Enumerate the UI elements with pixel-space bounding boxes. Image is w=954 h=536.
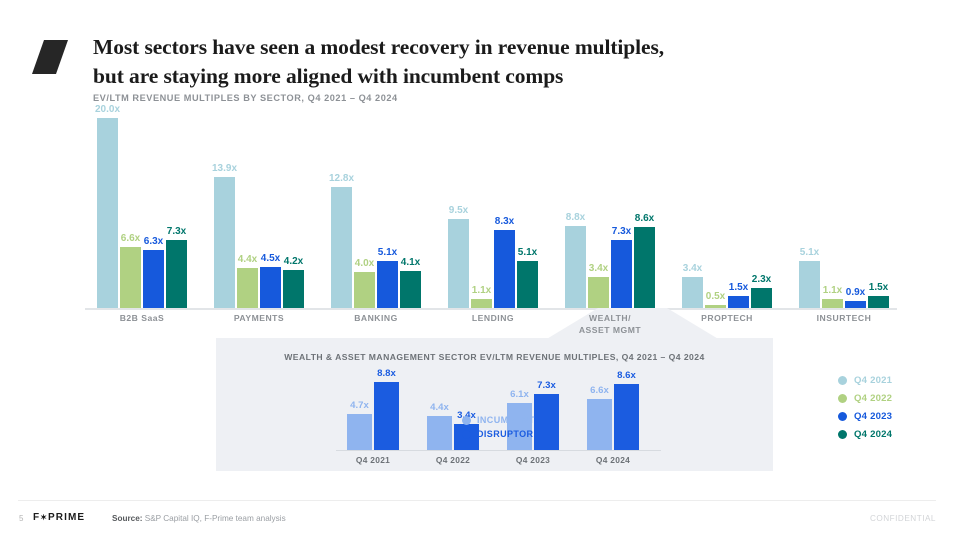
legend-label: Q4 2024 (854, 429, 892, 440)
inset-legend-swatch-icon (462, 430, 471, 439)
bar-value-label: 0.9x (846, 288, 865, 298)
bar-column[interactable]: 7.3x (166, 118, 187, 310)
category-label-line: LENDING (428, 313, 558, 325)
source-label: Source: (112, 514, 142, 523)
bar-column[interactable]: 4.4x (237, 118, 258, 310)
bar-value-label: 0.5x (706, 292, 725, 302)
bar-value-label: 6.3x (144, 237, 163, 247)
bar[interactable] (143, 250, 164, 310)
bar-column[interactable]: 0.5x (705, 118, 726, 310)
bar-value-label: 8.8x (566, 213, 585, 223)
inset-bar-value-label: 6.6x (590, 386, 609, 396)
inset-legend-swatch-icon (462, 416, 471, 425)
bar-column[interactable]: 20.0x (97, 118, 118, 310)
inset-bar[interactable] (587, 399, 612, 450)
bar[interactable] (565, 226, 586, 310)
inset-bar-column[interactable]: 6.6x (587, 382, 612, 450)
inset-legend-item[interactable]: DISRUPTOR (462, 429, 535, 439)
page-number: 5 (19, 514, 23, 523)
bar[interactable] (400, 271, 421, 310)
bar-value-label: 4.5x (261, 254, 280, 264)
bar[interactable] (634, 227, 655, 310)
bar-column[interactable]: 0.9x (845, 118, 866, 310)
bar-value-label: 5.1x (800, 248, 819, 258)
bar-value-label: 1.1x (472, 286, 491, 296)
inset-bar-value-label: 4.4x (430, 403, 449, 413)
category-label-line: PROPTECH (662, 313, 792, 325)
legend-item[interactable]: Q4 2021 (838, 375, 892, 386)
bar-column[interactable]: 1.5x (728, 118, 749, 310)
inset-bar[interactable] (427, 416, 452, 450)
bar-column[interactable]: 6.3x (143, 118, 164, 310)
fprime-logo: F✶PRIME (33, 512, 85, 523)
bar-group: 5.1x1.1x0.9x1.5x (799, 118, 889, 310)
inset-bar[interactable] (347, 414, 372, 450)
bar-value-label: 5.1x (378, 248, 397, 258)
bar-group: 3.4x0.5x1.5x2.3x (682, 118, 772, 310)
legend-label: Q4 2022 (854, 393, 892, 404)
main-chart-axis (85, 308, 897, 310)
bar[interactable] (588, 277, 609, 310)
slide-root: Most sectors have seen a modest recovery… (0, 0, 954, 536)
bar-column[interactable]: 5.1x (517, 118, 538, 310)
brand-slash-icon (30, 36, 72, 78)
bar-value-label: 4.2x (284, 257, 303, 267)
bar[interactable] (799, 261, 820, 310)
bar-value-label: 9.5x (449, 206, 468, 216)
bar-value-label: 1.5x (729, 283, 748, 293)
bar-value-label: 3.4x (589, 264, 608, 274)
bar-column[interactable]: 12.8x (331, 118, 352, 310)
source-text: S&P Capital IQ, F-Prime team analysis (142, 514, 285, 523)
bar[interactable] (283, 270, 304, 310)
inset-bar[interactable] (534, 394, 559, 450)
bar-value-label: 3.4x (683, 264, 702, 274)
inset-legend-label: INCUMBENT (477, 415, 535, 425)
bar-column[interactable]: 8.8x (565, 118, 586, 310)
bar[interactable] (354, 272, 375, 310)
bar-value-label: 4.1x (401, 258, 420, 268)
bar-column[interactable]: 4.5x (260, 118, 281, 310)
bar-column[interactable]: 4.2x (283, 118, 304, 310)
bar-value-label: 20.0x (95, 105, 120, 115)
bar-value-label: 4.4x (238, 255, 257, 265)
bar[interactable] (377, 261, 398, 310)
bar-value-label: 4.0x (355, 259, 374, 269)
bar-group: 9.5x1.1x8.3x5.1x (448, 118, 538, 310)
bar-group: 8.8x3.4x7.3x8.6x (565, 118, 655, 310)
bar[interactable] (331, 187, 352, 310)
bar-column[interactable]: 3.4x (682, 118, 703, 310)
bar[interactable] (260, 267, 281, 310)
inset-bar-value-label: 8.6x (617, 371, 636, 381)
bar-value-label: 12.8x (329, 174, 354, 184)
inset-legend-label: DISRUPTOR (477, 429, 533, 439)
bar-column[interactable]: 2.3x (751, 118, 772, 310)
bar-column[interactable]: 7.3x (611, 118, 632, 310)
bar-group: 13.9x4.4x4.5x4.2x (214, 118, 304, 310)
bar-value-label: 2.3x (752, 275, 771, 285)
bar-value-label: 8.3x (495, 217, 514, 227)
bar-column[interactable]: 6.6x (120, 118, 141, 310)
bar-value-label: 5.1x (518, 248, 537, 258)
bar-value-label: 7.3x (167, 227, 186, 237)
main-bar-chart: 20.0x6.6x6.3x7.3x13.9x4.4x4.5x4.2x12.8x4… (85, 118, 895, 310)
bar-column[interactable]: 5.1x (799, 118, 820, 310)
bar-column[interactable]: 8.3x (494, 118, 515, 310)
category-label-line: PAYMENTS (194, 313, 324, 325)
bar-value-label: 1.1x (823, 286, 842, 296)
inset-bar-column[interactable]: 7.3x (534, 382, 559, 450)
bar-column[interactable]: 5.1x (377, 118, 398, 310)
title-line-2: but are staying more aligned with incumb… (93, 62, 783, 91)
inset-bar[interactable] (614, 384, 639, 450)
source-note: Source: S&P Capital IQ, F-Prime team ana… (112, 514, 286, 523)
inset-bar-value-label: 6.1x (510, 390, 529, 400)
bar-column[interactable]: 8.6x (634, 118, 655, 310)
bar-column[interactable]: 1.1x (471, 118, 492, 310)
inset-bar-group: 4.7x8.8x (347, 382, 399, 450)
bar[interactable] (120, 247, 141, 310)
inset-title: WEALTH & ASSET MANAGEMENT SECTOR EV/LTM … (216, 352, 773, 362)
inset-bar-group: 6.6x8.6x (587, 382, 639, 450)
bar-column[interactable]: 13.9x (214, 118, 235, 310)
title-line-1: Most sectors have seen a modest recovery… (93, 35, 664, 59)
fprime-logo-prime: PRIME (48, 512, 85, 523)
legend-label: Q4 2021 (854, 375, 892, 386)
legend-item[interactable]: Q4 2023 (838, 411, 892, 422)
bar[interactable] (517, 261, 538, 310)
legend-label: Q4 2023 (854, 411, 892, 422)
bar[interactable] (214, 177, 235, 310)
category-label: B2B SaaS (77, 313, 207, 325)
inset-category-label: Q4 2023 (493, 455, 573, 465)
inset-panel: WEALTH & ASSET MANAGEMENT SECTOR EV/LTM … (216, 338, 773, 471)
category-label: PAYMENTS (194, 313, 324, 325)
category-label-line: WEALTH/ (545, 313, 675, 325)
inset-bar-column[interactable]: 8.6x (614, 382, 639, 450)
legend-swatch-icon (838, 394, 847, 403)
legend-item[interactable]: Q4 2024 (838, 429, 892, 440)
inset-bar-value-label: 4.7x (350, 401, 369, 411)
legend-swatch-icon (838, 376, 847, 385)
bar[interactable] (611, 240, 632, 310)
bar-column[interactable]: 9.5x (448, 118, 469, 310)
bar-column[interactable]: 4.1x (400, 118, 421, 310)
legend-swatch-icon (838, 412, 847, 421)
inset-bar-value-label: 8.8x (377, 369, 396, 379)
inset-category-label: Q4 2022 (413, 455, 493, 465)
bar[interactable] (751, 288, 772, 310)
page-title: Most sectors have seen a modest recovery… (93, 33, 783, 90)
bar[interactable] (682, 277, 703, 310)
category-label: WEALTH/ASSET MGMT (545, 313, 675, 336)
category-label-line: BANKING (311, 313, 441, 325)
chart-legend: Q4 2021Q4 2022Q4 2023Q4 2024 (838, 375, 892, 447)
category-label-line: ASSET MGMT (545, 325, 675, 337)
inset-bar-column[interactable]: 8.8x (374, 382, 399, 450)
inset-category-label: Q4 2021 (333, 455, 413, 465)
bar[interactable] (166, 240, 187, 310)
bar-value-label: 8.6x (635, 214, 654, 224)
inset-legend: INCUMBENTDISRUPTOR (462, 415, 535, 443)
footer-divider (18, 500, 936, 501)
bar-column[interactable]: 4.0x (354, 118, 375, 310)
inset-bar-value-label: 7.3x (537, 381, 556, 391)
bar-value-label: 7.3x (612, 227, 631, 237)
bar-column[interactable]: 3.4x (588, 118, 609, 310)
category-label: BANKING (311, 313, 441, 325)
inset-chart-axis (336, 450, 661, 451)
fprime-logo-slash-icon: ✶ (40, 513, 48, 522)
category-label: INSURTECH (779, 313, 909, 325)
legend-item[interactable]: Q4 2022 (838, 393, 892, 404)
bar-value-label: 1.5x (869, 283, 888, 293)
bar-group: 20.0x6.6x6.3x7.3x (97, 118, 187, 310)
bar-column[interactable]: 1.5x (868, 118, 889, 310)
bar[interactable] (237, 268, 258, 310)
bar-value-label: 6.6x (121, 234, 140, 244)
bar-value-label: 13.9x (212, 164, 237, 174)
category-label-line: B2B SaaS (77, 313, 207, 325)
inset-bar-column[interactable]: 4.4x (427, 382, 452, 450)
inset-legend-item[interactable]: INCUMBENT (462, 415, 535, 425)
bar[interactable] (448, 219, 469, 310)
bar-column[interactable]: 1.1x (822, 118, 843, 310)
legend-swatch-icon (838, 430, 847, 439)
chart-subtitle: EV/LTM REVENUE MULTIPLES BY SECTOR, Q4 2… (93, 93, 398, 103)
category-label: PROPTECH (662, 313, 792, 325)
inset-bar-column[interactable]: 4.7x (347, 382, 372, 450)
bar[interactable] (97, 118, 118, 310)
bar[interactable] (494, 230, 515, 310)
confidential-marker: CONFIDENTIAL (870, 514, 936, 523)
inset-category-label: Q4 2024 (573, 455, 653, 465)
category-label-line: INSURTECH (779, 313, 909, 325)
inset-bar[interactable] (374, 382, 399, 450)
bar-group: 12.8x4.0x5.1x4.1x (331, 118, 421, 310)
category-label: LENDING (428, 313, 558, 325)
